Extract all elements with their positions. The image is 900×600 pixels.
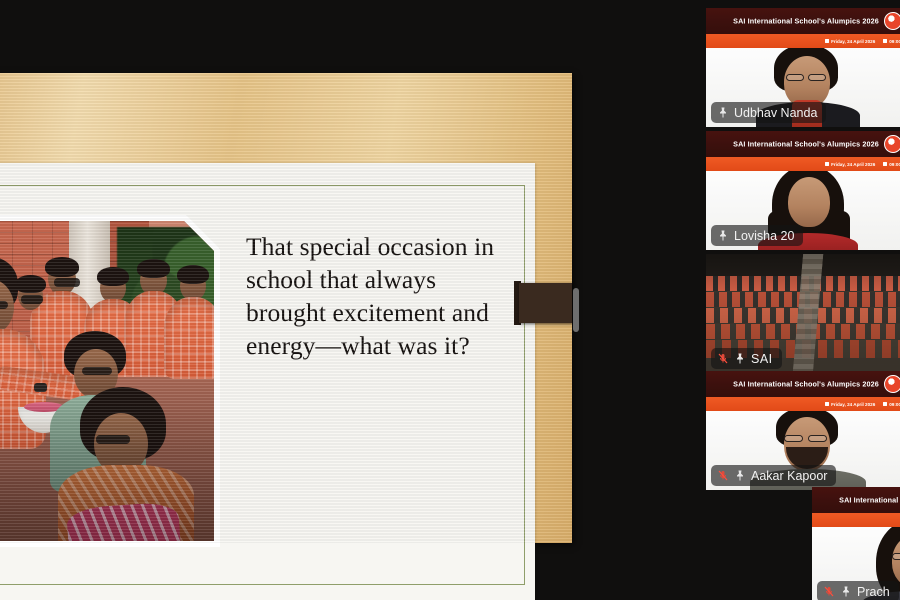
tile-subbar: Friday, 24 April 2026 09:00 — [706, 397, 900, 411]
participant-name-badge: Udbhav Nanda — [711, 102, 826, 123]
banner-time: 09:00 — [889, 162, 900, 167]
participant-tile-udbhav-nanda[interactable]: SAI International School's Alumpics 2026… — [706, 8, 900, 127]
banner-logo-icon — [884, 375, 900, 393]
banner-date: Friday, 24 April 2026 — [831, 39, 875, 44]
pin-icon — [734, 352, 746, 365]
tile-banner: SAI International School's Alumpics 2026 — [812, 487, 900, 513]
banner-date: Friday, 24 April 2026 — [831, 402, 875, 407]
tile-subbar: Friday, 24 April 2026 09:00 — [706, 34, 900, 48]
tile-banner: SAI International School's Alumpics 2026 — [706, 371, 900, 397]
calendar-icon — [825, 39, 829, 43]
banner-time-meta: 09:00 — [883, 162, 900, 167]
banner-date: Friday, 24 April 2026 — [831, 162, 875, 167]
participant-name-badge: Prach — [817, 581, 899, 600]
participant-tile-sai[interactable]: SAI — [706, 254, 900, 373]
pin-icon — [717, 106, 729, 119]
participant-name: SAI — [751, 352, 773, 366]
tile-subbar: Friday, 24 April 2026 09:00 — [706, 157, 900, 171]
clock-icon — [883, 39, 887, 43]
participant-name-badge: Lovisha 20 — [711, 225, 803, 246]
participant-tile-prach[interactable]: SAI International School's Alumpics 2026… — [812, 487, 900, 600]
tile-subbar: Friday, 24 April 2026 09:00 — [812, 513, 900, 527]
pin-icon — [840, 585, 852, 598]
banner-time: 09:00 — [889, 39, 900, 44]
participant-name-badge: SAI — [711, 348, 782, 369]
banner-date-meta: Friday, 24 April 2026 — [825, 39, 875, 44]
slide-photo — [0, 221, 214, 541]
calendar-icon — [825, 162, 829, 166]
screen-side-rail — [573, 288, 579, 332]
tile-banner: SAI International School's Alumpics 2026 — [706, 131, 900, 157]
mic-muted-icon — [717, 352, 729, 365]
slide-content: That special occasion in school that alw… — [0, 185, 525, 585]
participant-name: Udbhav Nanda — [734, 106, 817, 120]
banner-time: 09:00 — [889, 402, 900, 407]
participant-name: Lovisha 20 — [734, 229, 794, 243]
mic-muted-icon — [823, 585, 835, 598]
tile-banner: SAI International School's Alumpics 2026 — [706, 8, 900, 34]
banner-title: SAI International School's Alumpics 2026 — [839, 496, 900, 505]
banner-date-meta: Friday, 24 April 2026 — [825, 162, 875, 167]
tile-video: Aakar Kapoor — [706, 411, 900, 490]
tile-video: SAI — [706, 254, 900, 373]
clock-icon — [883, 162, 887, 166]
banner-logo-icon — [884, 135, 900, 153]
clock-icon — [883, 402, 887, 406]
screen-root: That special occasion in school that alw… — [0, 0, 900, 600]
slide-question-text: That special occasion in school that alw… — [246, 230, 508, 363]
banner-title: SAI International School's Alumpics 2026 — [733, 380, 879, 389]
calendar-icon — [825, 402, 829, 406]
tile-video: Lovisha 20 — [706, 171, 900, 250]
participant-tile-aakar-kapoor[interactable]: SAI International School's Alumpics 2026… — [706, 371, 900, 490]
participant-name: Prach — [857, 585, 890, 599]
participant-tile-lovisha-20[interactable]: SAI International School's Alumpics 2026… — [706, 131, 900, 250]
tile-video: Prach — [812, 527, 900, 600]
banner-date-meta: Friday, 24 April 2026 — [825, 402, 875, 407]
banner-title: SAI International School's Alumpics 2026 — [733, 17, 879, 26]
mic-muted-icon — [717, 469, 729, 482]
banner-time-meta: 09:00 — [883, 39, 900, 44]
screen-mount-block — [519, 283, 572, 323]
participant-name: Aakar Kapoor — [751, 469, 827, 483]
tile-video: Udbhav Nanda — [706, 48, 900, 127]
banner-time-meta: 09:00 — [883, 402, 900, 407]
presentation-screen-frame: That special occasion in school that alw… — [0, 73, 572, 543]
participant-name-badge: Aakar Kapoor — [711, 465, 836, 486]
banner-title: SAI International School's Alumpics 2026 — [733, 140, 879, 149]
pin-icon — [734, 469, 746, 482]
banner-logo-icon — [884, 12, 900, 30]
pin-icon — [717, 229, 729, 242]
slide-photo-frame — [0, 215, 220, 547]
